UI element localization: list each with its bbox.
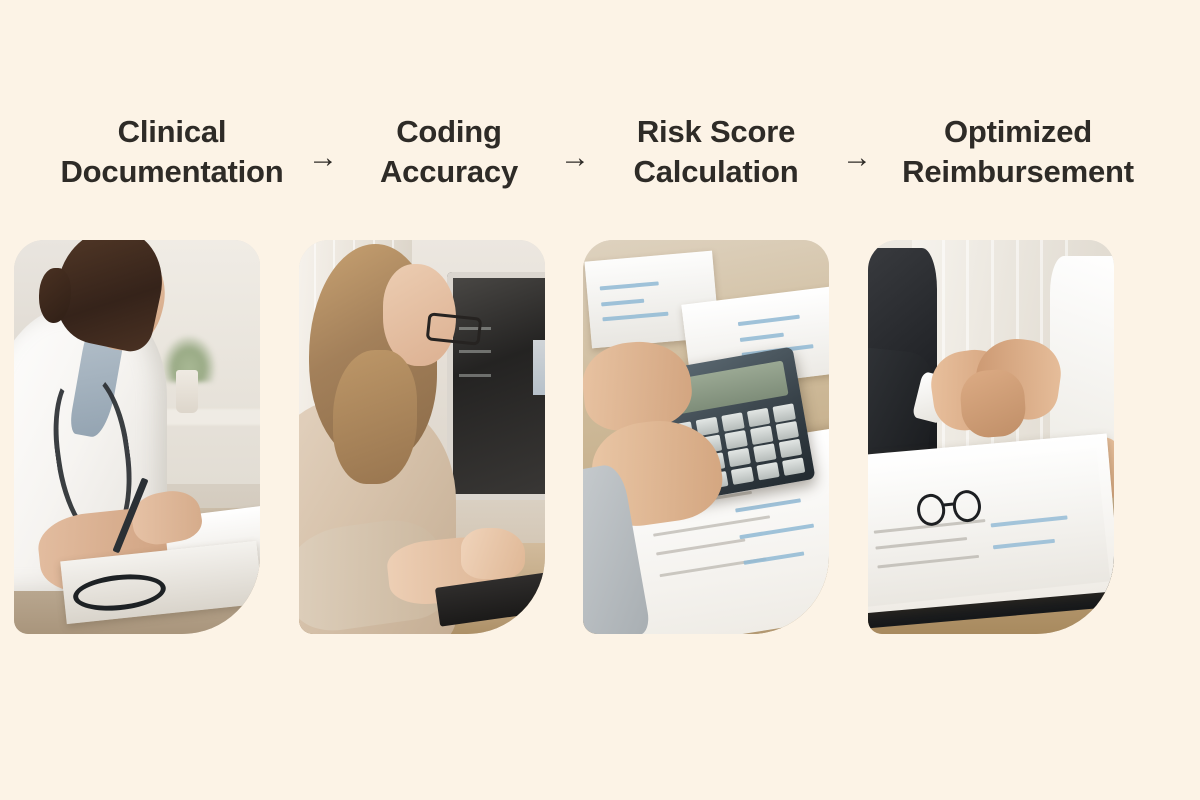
infographic-canvas: Clinical Documentation → Coding Accuracy… — [0, 0, 1200, 800]
step-label-clinical-documentation: Clinical Documentation — [47, 112, 297, 193]
photo-woman-at-computer — [299, 240, 545, 634]
photo-card-coding-accuracy — [299, 240, 545, 634]
arrow-right-icon-2: → — [549, 143, 601, 173]
step-label-optimized-reimbursement: Optimized Reimbursement — [883, 112, 1153, 193]
photo-handshake-over-documents — [868, 240, 1114, 634]
photo-card-optimized-reimbursement — [868, 240, 1114, 634]
step-label-risk-score-calculation: Risk Score Calculation — [601, 112, 831, 193]
photo-card-clinical-documentation — [14, 240, 260, 634]
photo-hands-with-calculator — [583, 240, 829, 634]
process-flow-labels: Clinical Documentation → Coding Accuracy… — [0, 112, 1200, 193]
step-label-coding-accuracy: Coding Accuracy — [349, 112, 549, 193]
arrow-right-icon-3: → — [831, 143, 883, 173]
photo-doctor-writing-notes — [14, 240, 260, 634]
process-flow-photos — [14, 240, 1186, 634]
photo-card-risk-score-calculation — [583, 240, 829, 634]
arrow-right-icon-1: → — [297, 143, 349, 173]
